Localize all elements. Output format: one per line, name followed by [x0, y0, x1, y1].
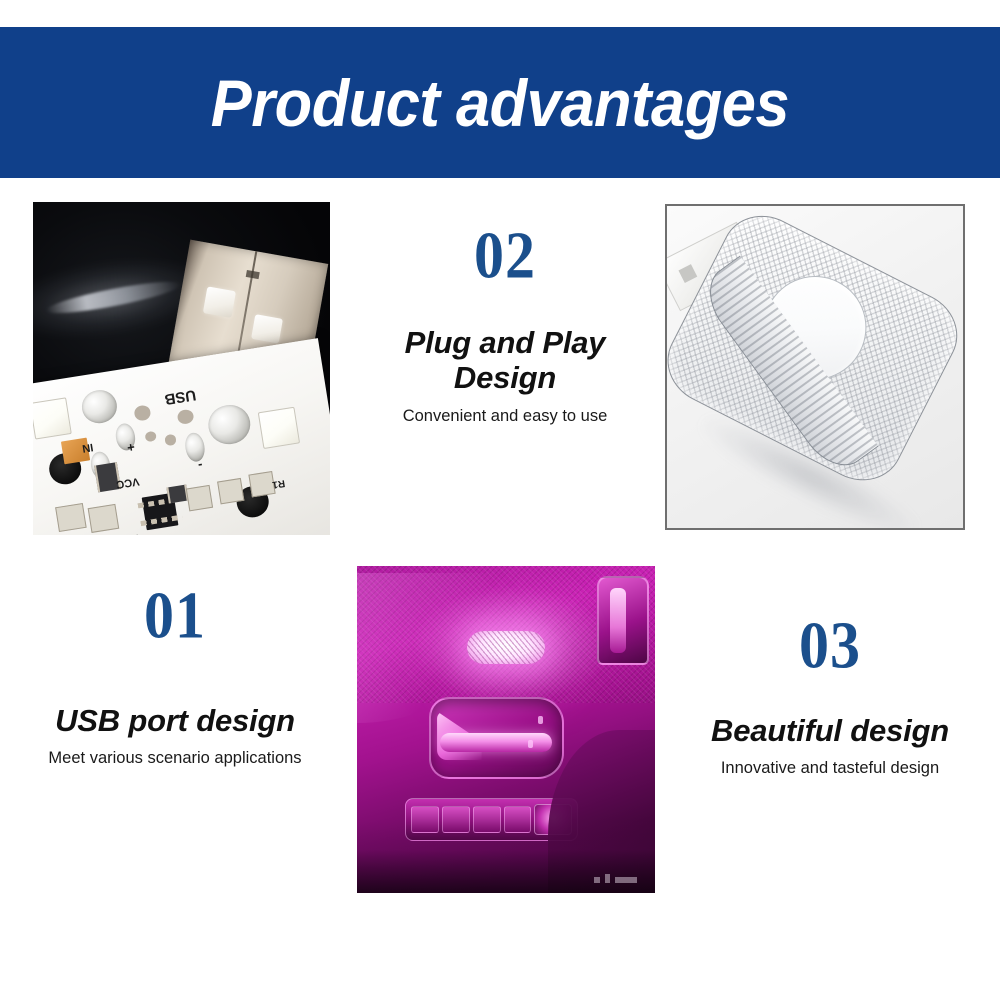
solder-pad-1 — [56, 503, 87, 532]
resistor-2 — [166, 484, 188, 503]
feature-subtitle-03: Innovative and tasteful design — [665, 759, 995, 779]
silkscreen-usb-label: USB — [164, 387, 198, 407]
feature-number-03: 03 — [665, 611, 995, 678]
solder-pad-2 — [88, 504, 119, 533]
door-handle-bar — [440, 733, 553, 752]
feature-title-03: Beautiful design — [665, 713, 995, 748]
via-1 — [134, 404, 152, 421]
silkscreen-vcc-label: VCC — [116, 475, 141, 489]
product-photo-usb-pcb: USB IN + - VCC LED R1 D1 — [33, 202, 330, 535]
feature-title-02: Plug and Play Design — [340, 325, 670, 396]
silkscreen-led-label: LED — [118, 532, 139, 535]
feature-title-01: USB port design — [10, 703, 340, 738]
silkscreen-in-label: IN — [81, 441, 94, 454]
usb-contact-pad-1 — [203, 287, 236, 318]
feature-block-02: 02 Plug and Play Design Convenient and e… — [340, 225, 670, 426]
lens-dome-4 — [184, 431, 208, 463]
installed-led-light — [467, 631, 544, 664]
feature-subtitle-02: Convenient and easy to use — [340, 407, 670, 427]
lens-dome-1 — [80, 387, 120, 425]
watermark-mark-1 — [594, 877, 600, 883]
smd-led-2 — [258, 406, 301, 448]
silkscreen-minus-label: - — [197, 457, 203, 471]
feature-subtitle-01: Meet various scenario applications — [10, 749, 340, 769]
page-title: Product advantages — [211, 70, 789, 136]
feature-block-03: 03 Beautiful design Innovative and taste… — [665, 615, 995, 779]
lens-dome-2 — [205, 402, 252, 447]
solder-pad-3 — [186, 485, 214, 511]
usb-contact-pad-2 — [251, 314, 283, 343]
feature-number-01: 01 — [10, 581, 340, 648]
header-banner: Product advantages — [0, 27, 1000, 178]
door-lock-indicator-2 — [528, 740, 533, 748]
feature-title-02-line2: Design — [454, 360, 556, 395]
watermark-mark-2 — [605, 874, 610, 883]
watermark-mark-3 — [615, 877, 637, 883]
via-3 — [144, 431, 157, 443]
feature-block-01: 01 USB port design Meet various scenario… — [10, 585, 340, 769]
via-4 — [164, 434, 177, 446]
feature-title-02-line1: Plug and Play — [405, 325, 606, 360]
usb-notch-top — [246, 270, 260, 279]
product-photo-car-interior — [357, 566, 655, 893]
door-handle-recess — [429, 697, 564, 779]
feature-number-02: 02 — [340, 221, 670, 288]
solder-pad-4 — [217, 478, 245, 504]
door-lock-indicator-1 — [538, 716, 543, 724]
photo-watermark — [594, 874, 637, 883]
door-tweeter-grille — [597, 576, 649, 665]
silkscreen-r1-label: R1 — [272, 477, 286, 489]
smd-led-1 — [33, 397, 72, 439]
led-circuit-board: USB IN + - VCC LED R1 D1 — [33, 338, 330, 535]
via-2 — [177, 408, 195, 425]
product-photo-clear-lamp — [665, 204, 965, 530]
